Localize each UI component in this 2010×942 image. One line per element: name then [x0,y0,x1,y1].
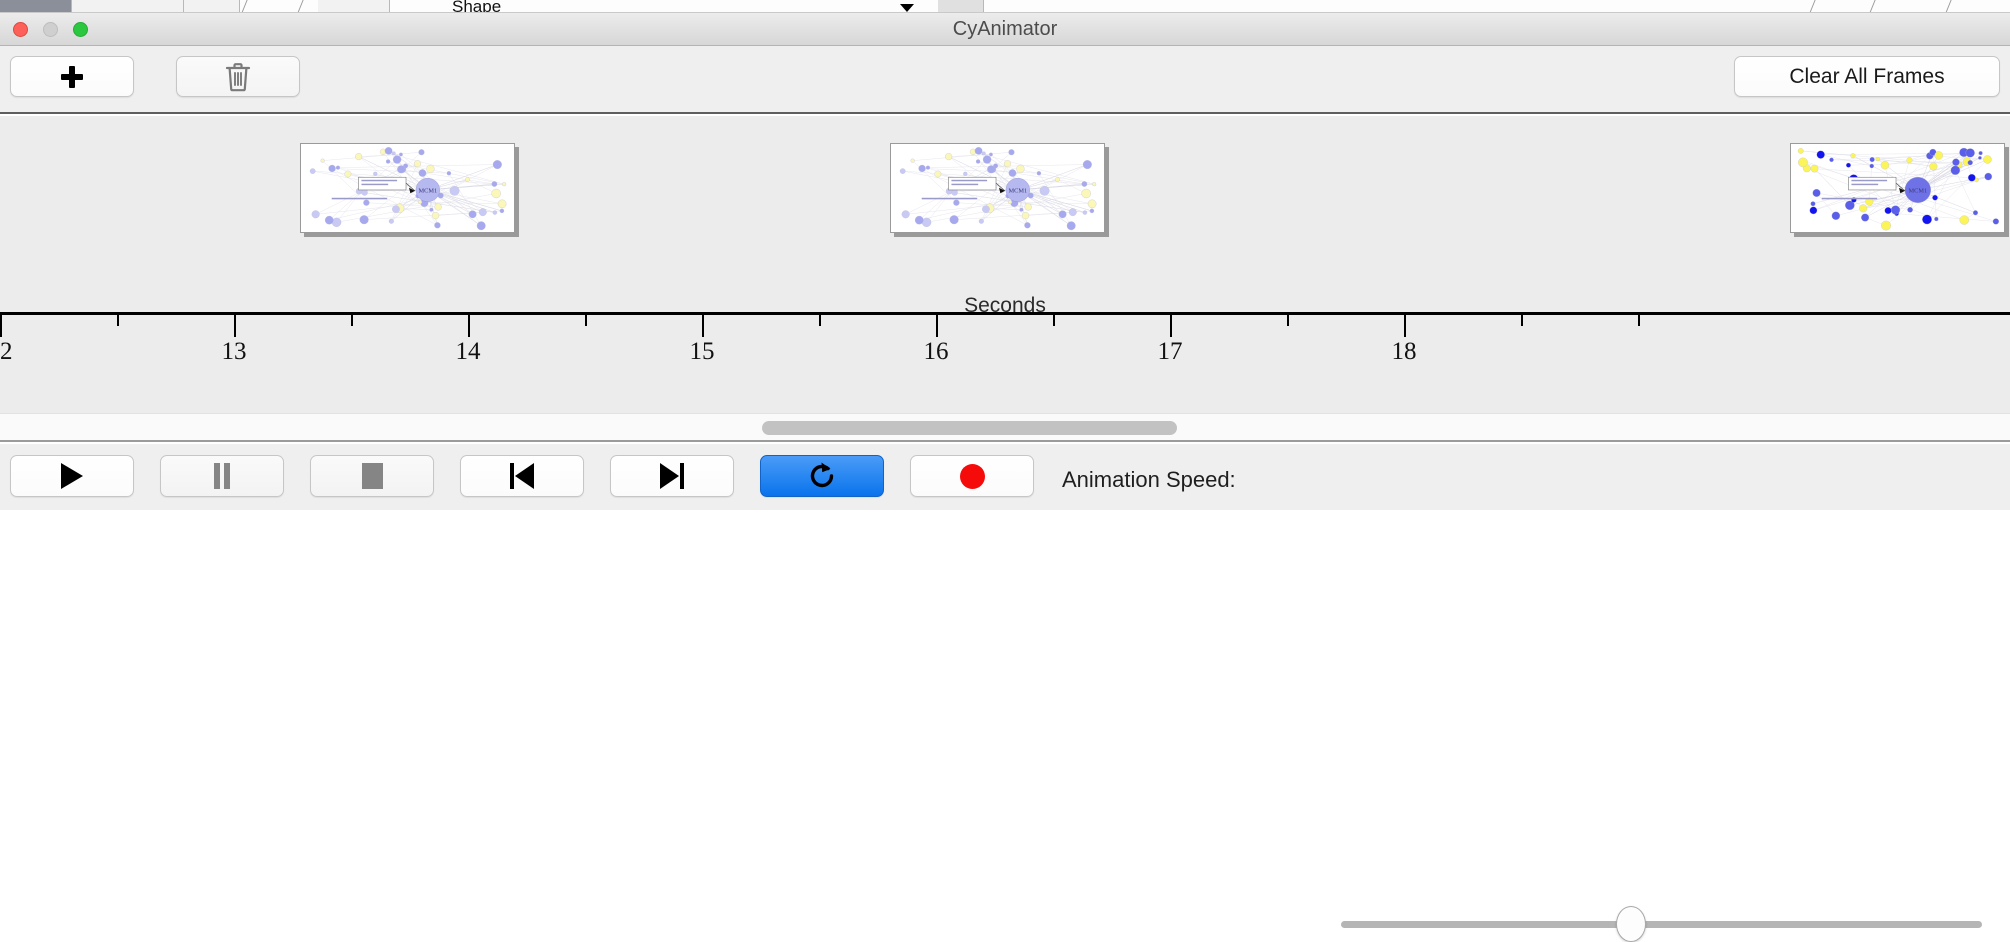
axis-tick [0,315,2,337]
add-frame-button[interactable] [10,56,134,97]
svg-text:MCM1: MCM1 [1008,188,1027,195]
axis-tick [936,315,938,337]
axis-title: Seconds [0,294,2010,318]
axis-tick [234,315,236,337]
timeline-scrollbar[interactable] [0,413,2010,442]
next-icon [660,463,684,489]
bg-tab-1 [72,0,184,13]
window-title-bar: CyAnimator [0,13,2010,46]
bg-tab-2 [184,0,240,13]
window-title: CyAnimator [0,13,2010,46]
bg-divider-5 [1945,0,1951,13]
next-button[interactable] [610,455,734,497]
axis-tick-label: 14 [456,338,481,366]
clear-all-frames-label: Clear All Frames [1789,65,1944,89]
record-button[interactable] [910,455,1034,497]
bg-tab-4 [938,0,984,13]
animation-speed-slider[interactable] [1341,921,1982,928]
previous-button[interactable] [460,455,584,497]
stop-button[interactable] [310,455,434,497]
timeline-scrollbar-thumb[interactable] [762,421,1177,435]
axis-tick [1170,315,1172,337]
timeline-panel[interactable]: MCM1MCM1MCM1 12131415161718 Seconds [0,116,2010,413]
axis-tick-label: 12 [0,338,13,366]
svg-text:MCM1: MCM1 [1908,188,1927,195]
play-button[interactable] [10,455,134,497]
animation-speed-thumb[interactable] [1616,906,1646,942]
pause-icon [213,463,231,489]
loop-icon [807,461,837,491]
delete-frame-button[interactable] [176,56,300,97]
bg-caret-icon [900,4,914,12]
background-window-strip: Shape [0,0,2010,13]
axis-tick-label: 17 [1158,338,1183,366]
toolbar: Clear All Frames [0,46,2010,114]
axis-tick-label: 16 [924,338,949,366]
play-icon [61,463,83,489]
clear-all-frames-button[interactable]: Clear All Frames [1734,56,2000,97]
timeline-frame-thumbnail[interactable]: MCM1 [890,143,1105,233]
frame-track[interactable]: MCM1MCM1MCM1 [0,116,2010,312]
axis-tick-label: 15 [690,338,715,366]
bg-divider-3 [1809,0,1815,13]
timeline-frame-thumbnail[interactable]: MCM1 [300,143,515,233]
svg-text:MCM1: MCM1 [418,188,437,195]
axis-tick-label: 13 [222,338,247,366]
axis-tick [1404,315,1406,337]
timeline-frame-thumbnail[interactable]: MCM1 [1790,143,2005,233]
playback-toolbar: Animation Speed: [0,444,2010,510]
axis-tick [468,315,470,337]
bg-divider-2 [297,0,303,13]
bg-divider-4 [1869,0,1875,13]
bg-tab-dark [0,0,72,13]
plus-icon [61,66,83,88]
bg-tab-3 [318,0,390,13]
bg-divider-1 [241,0,247,13]
bg-window-label: Shape [452,0,501,13]
record-icon [960,464,985,489]
animation-speed-label: Animation Speed: [1062,467,1236,493]
stop-icon [362,463,383,489]
pause-button[interactable] [160,455,284,497]
previous-icon [510,463,534,489]
axis-tick-label: 18 [1392,338,1417,366]
loop-button[interactable] [760,455,884,497]
axis-tick [702,315,704,337]
trash-icon [225,62,251,92]
